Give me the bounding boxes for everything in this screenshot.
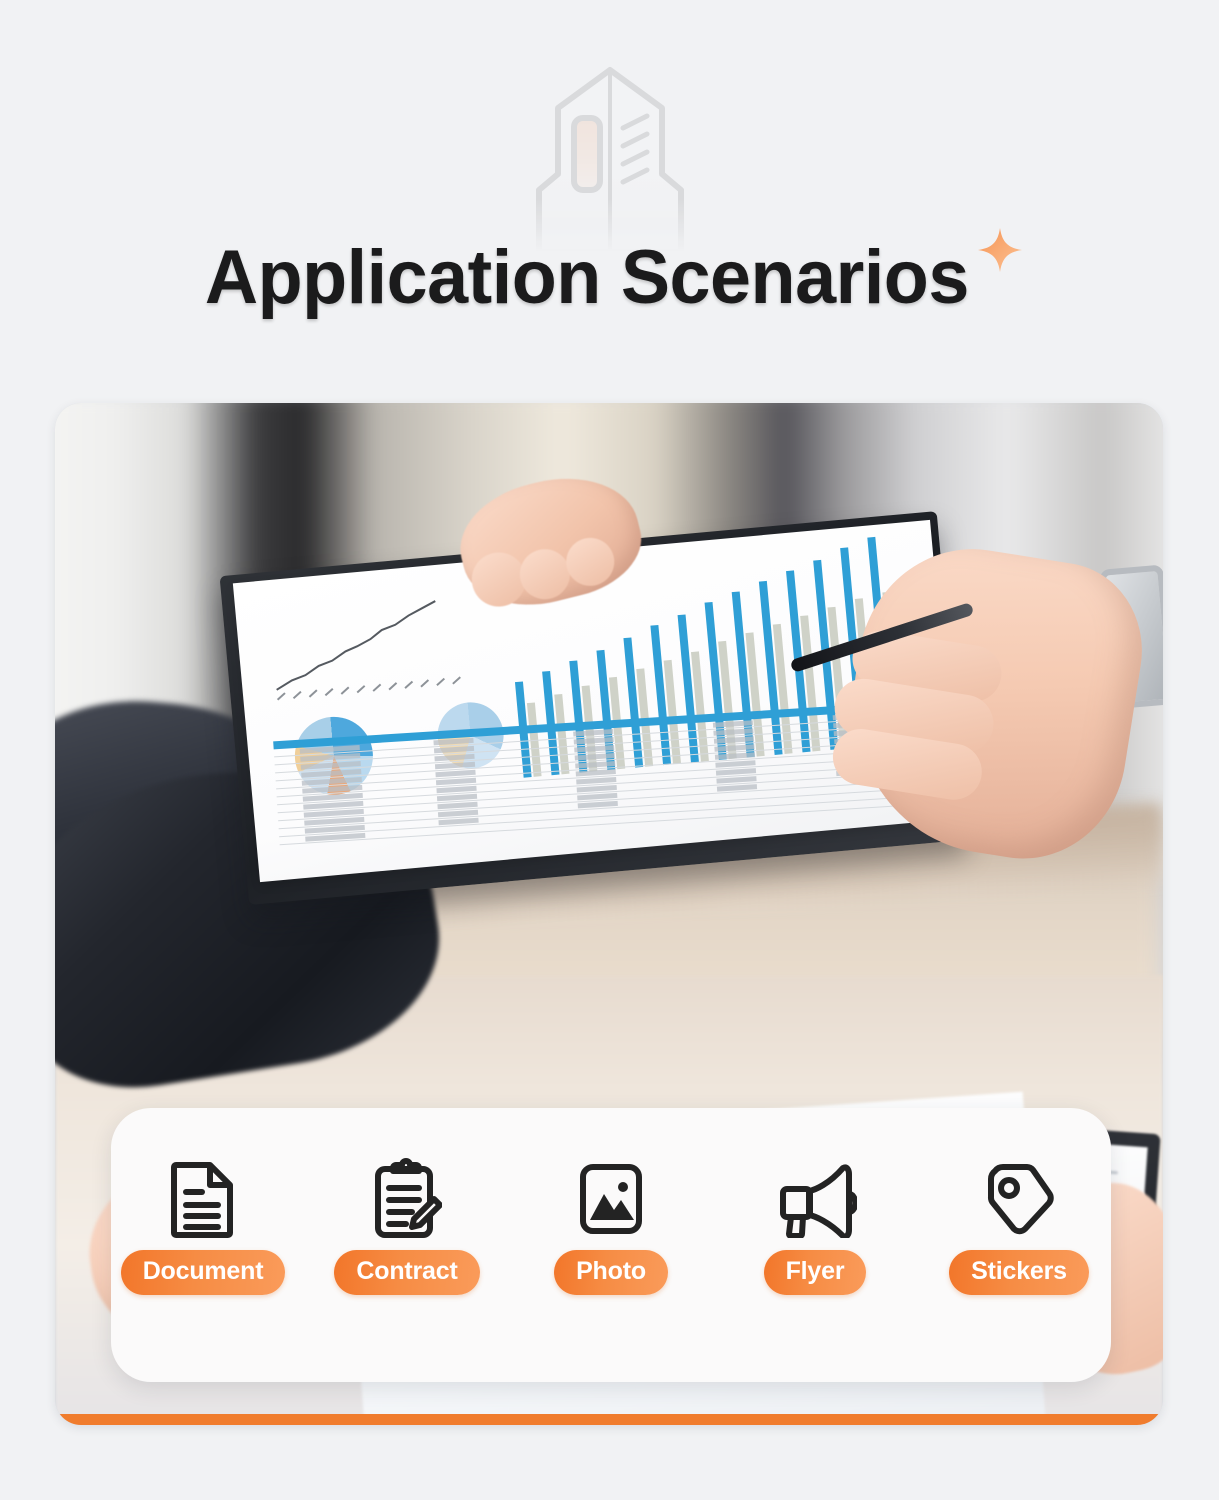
- title-row: Application Scenarios: [0, 240, 1219, 316]
- scenario-label-photo[interactable]: Photo: [554, 1250, 668, 1295]
- scenario-label-stickers[interactable]: Stickers: [949, 1250, 1089, 1295]
- scenario-label-contract[interactable]: Contract: [334, 1250, 479, 1295]
- megaphone-icon: [773, 1156, 857, 1242]
- scenario-list: Document Contract: [123, 1156, 1099, 1295]
- scenario-item-photo[interactable]: Photo: [531, 1156, 691, 1295]
- scenario-item-document[interactable]: Document: [123, 1156, 283, 1295]
- logo-wrap: [0, 62, 1219, 252]
- sparkle-icon: [974, 224, 1026, 276]
- scenario-label-flyer[interactable]: Flyer: [764, 1250, 867, 1295]
- image-icon: [576, 1156, 646, 1242]
- page-header: Application Scenarios: [0, 0, 1219, 390]
- clipboard-pencil-icon: [372, 1156, 442, 1242]
- page-title: Application Scenarios: [204, 240, 968, 316]
- scenario-item-stickers[interactable]: Stickers: [939, 1156, 1099, 1295]
- scenario-item-contract[interactable]: Contract: [327, 1156, 487, 1295]
- tag-icon: [981, 1156, 1057, 1242]
- scenario-label-document[interactable]: Document: [121, 1250, 286, 1295]
- scenario-item-flyer[interactable]: Flyer: [735, 1156, 895, 1295]
- document-icon: [169, 1156, 237, 1242]
- scenario-feature-card: Document Contract: [111, 1108, 1111, 1382]
- building-tower-icon: [495, 62, 725, 252]
- report-line-chart: [261, 584, 499, 704]
